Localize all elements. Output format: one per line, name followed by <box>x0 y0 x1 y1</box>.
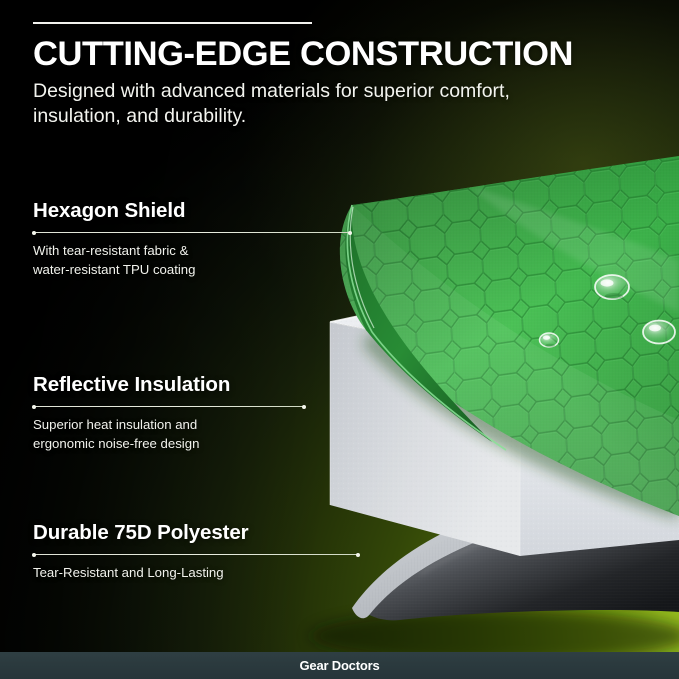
feature-durable-polyester: Durable 75D Polyester Tear-Resistant and… <box>33 521 359 583</box>
product-infographic: CUTTING-EDGE CONSTRUCTION Designed with … <box>0 0 679 679</box>
feature-hexagon-shield: Hexagon Shield With tear-resistant fabri… <box>33 199 351 279</box>
feature-reflective-insulation: Reflective Insulation Superior heat insu… <box>33 373 305 453</box>
page-subtitle: Designed with advanced materials for sup… <box>33 79 578 129</box>
feature-title: Durable 75D Polyester <box>33 521 359 545</box>
feature-divider <box>33 406 305 407</box>
feature-description: Tear-Resistant and Long-Lasting <box>33 564 359 583</box>
feature-divider <box>33 232 351 233</box>
feature-title: Hexagon Shield <box>33 199 351 223</box>
feature-description: Superior heat insulation and ergonomic n… <box>33 416 305 453</box>
brand-name: Gear Doctors <box>300 658 380 673</box>
feature-title: Reflective Insulation <box>33 373 305 397</box>
footer-bar: Gear Doctors <box>0 652 679 679</box>
feature-divider <box>33 554 359 555</box>
page-title: CUTTING-EDGE CONSTRUCTION <box>33 37 633 73</box>
feature-description: With tear-resistant fabric & water-resis… <box>33 242 351 279</box>
header-block: CUTTING-EDGE CONSTRUCTION Designed with … <box>33 22 633 128</box>
header-rule <box>33 22 312 24</box>
